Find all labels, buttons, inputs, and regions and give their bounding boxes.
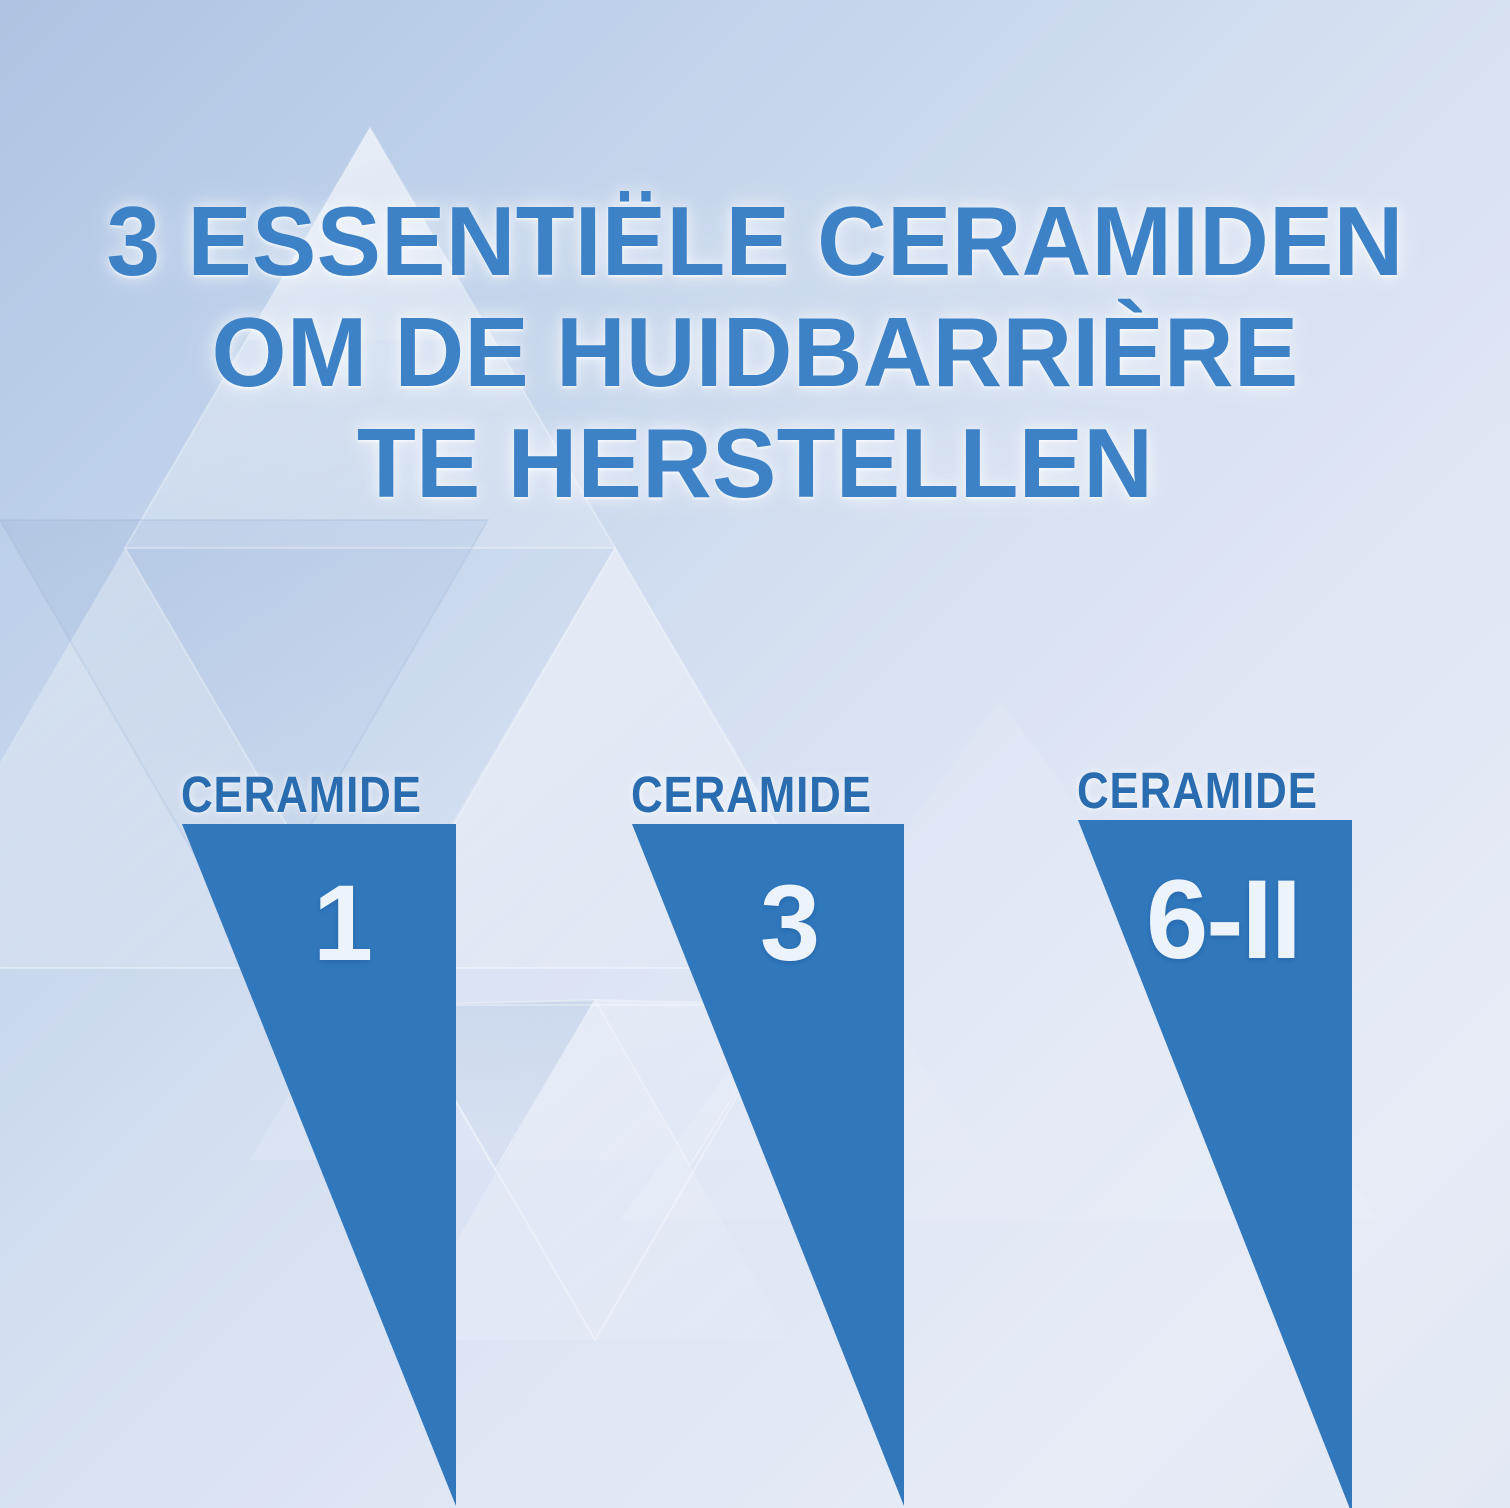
page-title: 3 ESSENTIËLE CERAMIDEN OM DE HUIDBARRIÈR…	[0, 186, 1510, 519]
ceramide-label-1: CERAMIDE	[181, 770, 422, 820]
ceramide-label-2: CERAMIDE	[631, 770, 872, 820]
promo-slide: 3 ESSENTIËLE CERAMIDEN OM DE HUIDBARRIÈR…	[0, 0, 1510, 1508]
ceramide-number-3: 6-II	[1146, 866, 1300, 974]
headline-line-3: TE HERSTELLEN	[11, 408, 1498, 519]
headline-line-2: OM DE HUIDBARRIÈRE	[11, 297, 1498, 408]
headline-line-1: 3 ESSENTIËLE CERAMIDEN	[11, 186, 1498, 297]
ceramide-number-2: 3	[760, 869, 820, 977]
ceramide-number-1: 1	[313, 869, 373, 977]
ceramide-label-3: CERAMIDE	[1077, 766, 1318, 816]
